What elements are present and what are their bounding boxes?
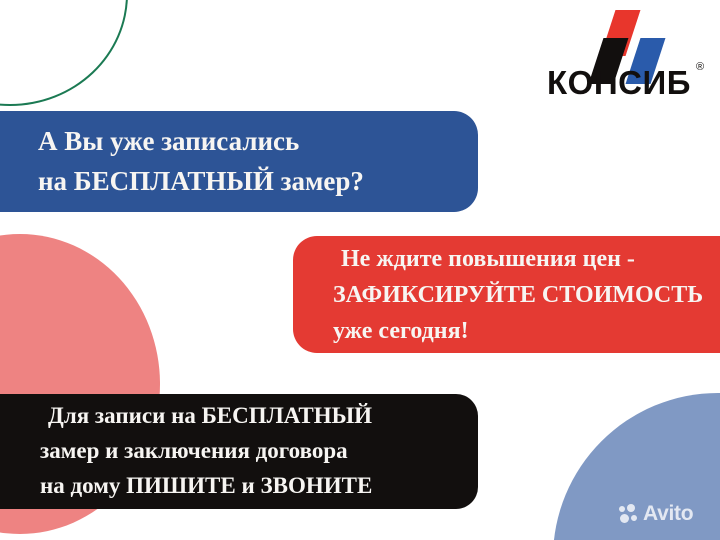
avito-dots-icon bbox=[619, 504, 639, 524]
urgency-line-3: уже сегодня! bbox=[333, 313, 720, 349]
urgency-line-2: ЗАФИКСИРУЙТЕ СТОИМОСТЬ bbox=[333, 277, 720, 313]
logo-wordmark: КОНСИБ bbox=[528, 66, 710, 99]
green-ring-icon bbox=[0, 0, 128, 106]
cta-line-3: на дому ПИШИТЕ и ЗВОНИТЕ bbox=[40, 469, 478, 504]
logo-mark-icon bbox=[528, 8, 710, 70]
avito-wordmark: Avito bbox=[643, 503, 693, 524]
cta-line-1: Для записи на БЕСПЛАТНЫЙ bbox=[40, 399, 478, 434]
urgency-panel-red: Не ждите повышения цен - ЗАФИКСИРУЙТЕ СТ… bbox=[293, 236, 720, 353]
headline-line-1: А Вы уже записались bbox=[38, 122, 478, 161]
cta-panel-black: Для записи на БЕСПЛАТНЫЙ замер и заключе… bbox=[0, 394, 478, 509]
registered-trademark-icon: ® bbox=[696, 61, 704, 73]
headline-line-2: на БЕСПЛАТНЫЙ замер? bbox=[38, 162, 478, 201]
company-logo: КОНСИБ ® bbox=[528, 8, 710, 106]
headline-panel-blue: А Вы уже записались на БЕСПЛАТНЫЙ замер? bbox=[0, 111, 478, 212]
avito-watermark: Avito bbox=[619, 503, 693, 524]
urgency-line-1: Не ждите повышения цен - bbox=[333, 241, 720, 277]
poster-canvas: КОНСИБ ® А Вы уже записались на БЕСПЛАТН… bbox=[0, 0, 720, 540]
cta-line-2: замер и заключения договора bbox=[40, 434, 478, 469]
